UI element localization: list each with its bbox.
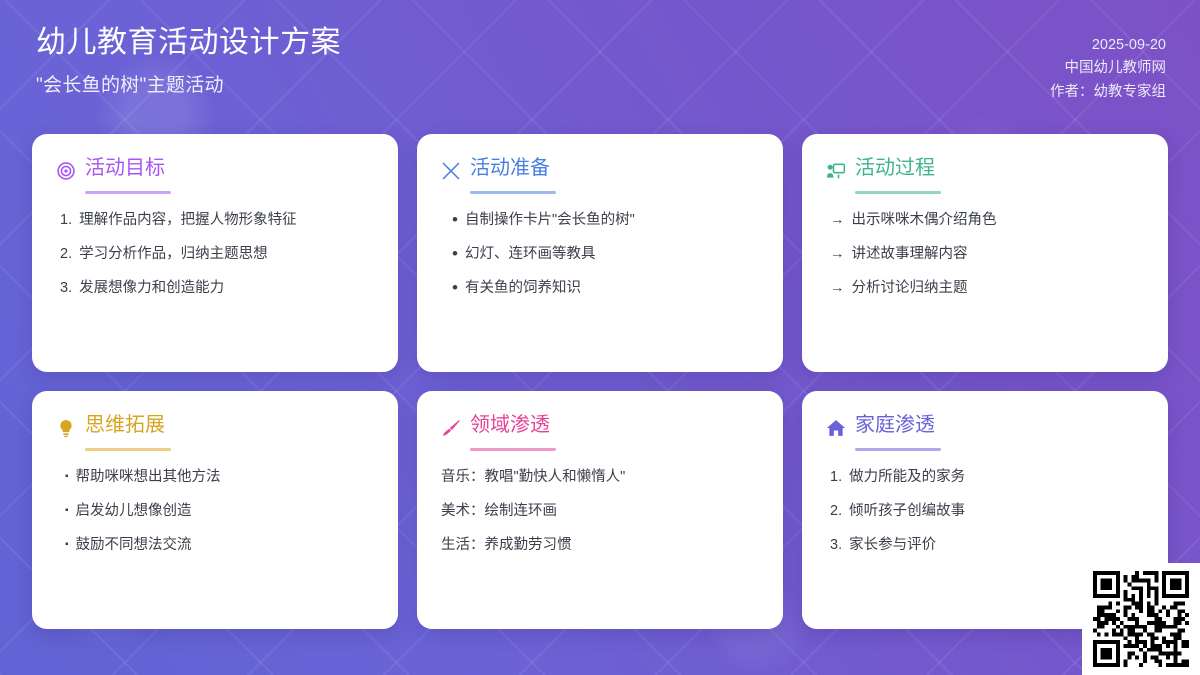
card-title: 领域渗透 (470, 413, 550, 442)
list-item: →讲述故事理解内容 (830, 244, 1144, 265)
list-item-text: 美术：绘制连环画 (441, 501, 557, 522)
list-item: →出示咪咪木偶介绍角色 (830, 210, 1144, 231)
home-icon (826, 418, 846, 438)
meta-source: 中国幼儿教师网 (1050, 57, 1166, 80)
list-marker: 3. (830, 535, 842, 556)
page-header: 幼儿教育活动设计方案 "会长鱼的树"主题活动 2025-09-20 中国幼儿教师… (0, 0, 1200, 122)
list-item-text: 帮助咪咪想出其他方法 (76, 467, 221, 488)
list-marker: 1. (830, 467, 842, 488)
card-list: 音乐：教唱"勤快人和懒惰人"美术：绘制连环画生活：养成勤劳习惯 (441, 467, 759, 556)
list-item-text: 鼓励不同想法交流 (76, 535, 192, 556)
card-title: 活动目标 (85, 156, 165, 185)
meta-author: 作者：幼教专家组 (1050, 81, 1166, 104)
list-item: 1.理解作品内容，把握人物形象特征 (60, 210, 374, 231)
list-item-text: 做力所能及的家务 (849, 467, 965, 488)
list-marker: ▪ (65, 501, 69, 521)
list-item-text: 家长参与评价 (849, 535, 936, 556)
qr-code-container (1082, 563, 1200, 675)
card-title: 活动过程 (855, 156, 935, 185)
list-marker: ▪ (65, 467, 69, 487)
card-grid: 活动目标1.理解作品内容，把握人物形象特征2.学习分析作品，归纳主题思想3.发展… (32, 134, 1168, 629)
target-icon (56, 161, 76, 181)
list-marker: 2. (60, 244, 72, 265)
list-item-text: 分析讨论归纳主题 (852, 278, 968, 299)
list-marker: 1. (60, 210, 72, 231)
list-item: 生活：养成勤劳习惯 (441, 535, 759, 556)
card-list: 1.理解作品内容，把握人物形象特征2.学习分析作品，归纳主题思想3.发展想像力和… (56, 210, 374, 299)
list-item: 3.家长参与评价 (830, 535, 1144, 556)
list-item-text: 有关鱼的饲养知识 (465, 278, 581, 299)
list-item: 2.倾听孩子创编故事 (830, 501, 1144, 522)
list-item: ▪鼓励不同想法交流 (65, 535, 374, 556)
qr-code (1093, 571, 1189, 667)
list-marker: → (830, 210, 845, 231)
card-activity-preparation: 活动准备•自制操作卡片"会长鱼的树"•幻灯、连环画等教具•有关鱼的饲养知识 (417, 134, 783, 372)
list-item-text: 生活：养成勤劳习惯 (441, 535, 572, 556)
presentation-icon (826, 161, 846, 181)
card-activity-process: 活动过程→出示咪咪木偶介绍角色→讲述故事理解内容→分析讨论归纳主题 (802, 134, 1168, 372)
card-header: 领域渗透 (441, 413, 759, 442)
list-item-text: 幻灯、连环画等教具 (465, 244, 596, 265)
header-titles: 幼儿教育活动设计方案 "会长鱼的树"主题活动 (34, 24, 341, 97)
list-marker: • (452, 244, 458, 264)
card-title: 活动准备 (470, 156, 550, 185)
tools-icon (441, 161, 461, 181)
list-item: •幻灯、连环画等教具 (452, 244, 759, 265)
list-item: 1.做力所能及的家务 (830, 467, 1144, 488)
title-underline (85, 448, 171, 451)
meta-date: 2025-09-20 (1050, 34, 1166, 57)
paintbrush-icon (441, 418, 461, 438)
card-list: 1.做力所能及的家务2.倾听孩子创编故事3.家长参与评价 (826, 467, 1144, 556)
card-header: 活动目标 (56, 156, 374, 185)
list-item: ▪帮助咪咪想出其他方法 (65, 467, 374, 488)
card-header: 活动过程 (826, 156, 1144, 185)
card-header: 家庭渗透 (826, 413, 1144, 442)
list-item-text: 出示咪咪木偶介绍角色 (852, 210, 997, 231)
title-underline (470, 448, 556, 451)
list-item-text: 理解作品内容，把握人物形象特征 (79, 210, 297, 231)
list-item: •有关鱼的饲养知识 (452, 278, 759, 299)
list-item-text: 启发幼儿想像创造 (76, 501, 192, 522)
title-underline (855, 191, 941, 194)
card-header: 思维拓展 (56, 413, 374, 442)
list-item: →分析讨论归纳主题 (830, 278, 1144, 299)
list-marker: • (452, 210, 458, 230)
list-item-text: 倾听孩子创编故事 (849, 501, 965, 522)
card-list: •自制操作卡片"会长鱼的树"•幻灯、连环画等教具•有关鱼的饲养知识 (441, 210, 759, 299)
title-underline (855, 448, 941, 451)
list-item-text: 音乐：教唱"勤快人和懒惰人" (441, 467, 625, 488)
list-item-text: 自制操作卡片"会长鱼的树" (465, 210, 635, 231)
card-title: 思维拓展 (85, 413, 165, 442)
list-item-text: 学习分析作品，归纳主题思想 (79, 244, 268, 265)
card-domain-infiltration: 领域渗透音乐：教唱"勤快人和懒惰人"美术：绘制连环画生活：养成勤劳习惯 (417, 391, 783, 629)
list-item: •自制操作卡片"会长鱼的树" (452, 210, 759, 231)
list-marker: → (830, 278, 845, 299)
title-underline (85, 191, 171, 194)
list-item-text: 讲述故事理解内容 (852, 244, 968, 265)
list-item: 美术：绘制连环画 (441, 501, 759, 522)
card-list: →出示咪咪木偶介绍角色→讲述故事理解内容→分析讨论归纳主题 (826, 210, 1144, 299)
list-item: ▪启发幼儿想像创造 (65, 501, 374, 522)
page-title: 幼儿教育活动设计方案 (36, 24, 341, 62)
card-activity-goal: 活动目标1.理解作品内容，把握人物形象特征2.学习分析作品，归纳主题思想3.发展… (32, 134, 398, 372)
header-meta: 2025-09-20 中国幼儿教师网 作者：幼教专家组 (1050, 24, 1166, 104)
list-marker: 3. (60, 278, 72, 299)
list-item: 2.学习分析作品，归纳主题思想 (60, 244, 374, 265)
list-marker: • (452, 278, 458, 298)
card-thinking-expansion: 思维拓展▪帮助咪咪想出其他方法▪启发幼儿想像创造▪鼓励不同想法交流 (32, 391, 398, 629)
list-item: 3.发展想像力和创造能力 (60, 278, 374, 299)
list-item-text: 发展想像力和创造能力 (79, 278, 224, 299)
list-marker: ▪ (65, 535, 69, 555)
card-header: 活动准备 (441, 156, 759, 185)
list-item: 音乐：教唱"勤快人和懒惰人" (441, 467, 759, 488)
page-subtitle: "会长鱼的树"主题活动 (36, 70, 341, 97)
list-marker: → (830, 244, 845, 265)
list-marker: 2. (830, 501, 842, 522)
card-list: ▪帮助咪咪想出其他方法▪启发幼儿想像创造▪鼓励不同想法交流 (56, 467, 374, 556)
card-title: 家庭渗透 (855, 413, 935, 442)
title-underline (470, 191, 556, 194)
lightbulb-icon (56, 418, 76, 438)
